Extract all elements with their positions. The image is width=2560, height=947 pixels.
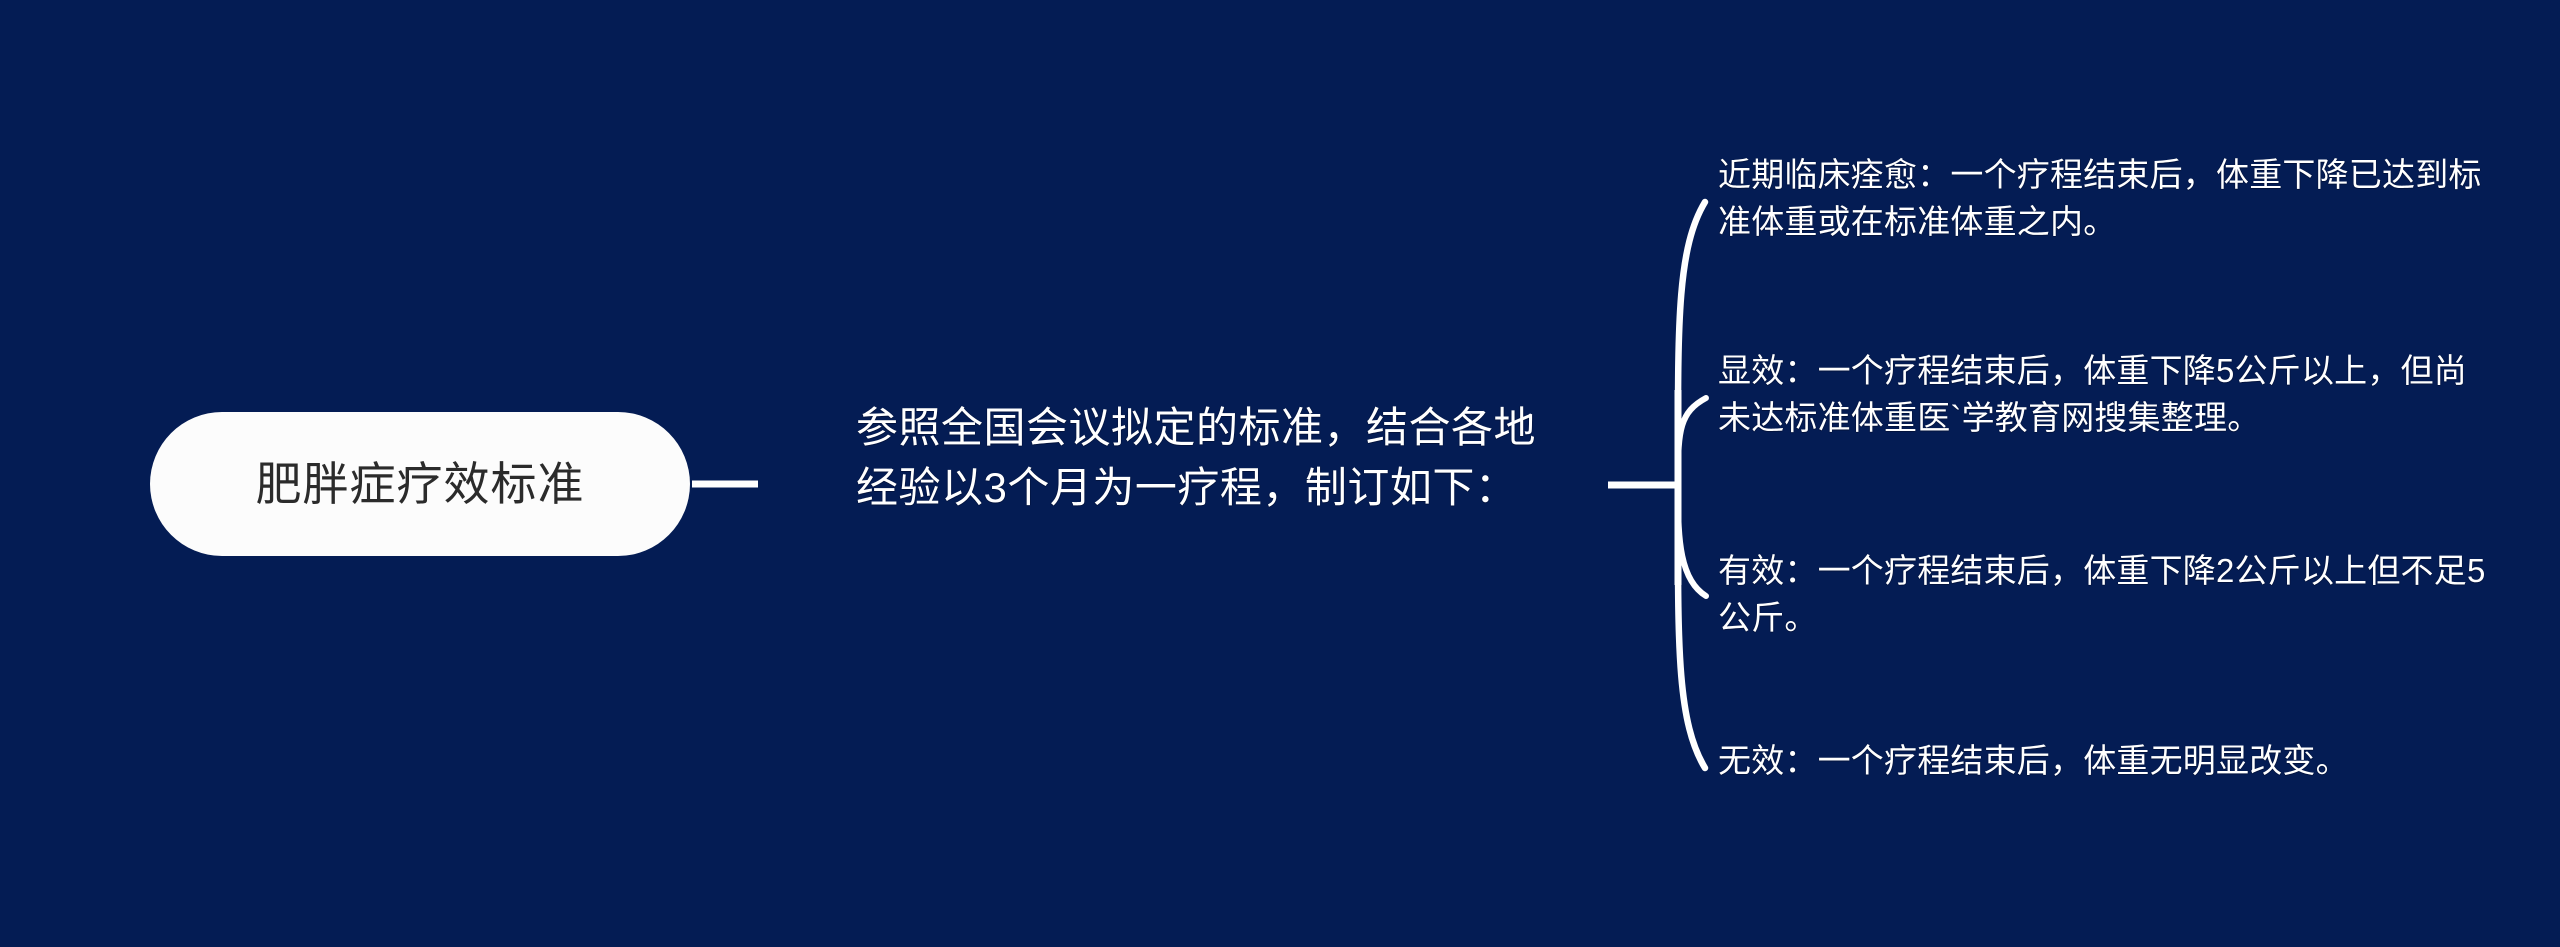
leaf-node-label: 显效：一个疗程结束后，体重下降5公斤以上，但尚未达标准体重医`学教育网搜集整理。: [1718, 352, 2467, 436]
leaf-node-effective[interactable]: 有效：一个疗程结束后，体重下降2公斤以上但不足5公斤。: [1718, 548, 2493, 642]
connector-brace-to-leaf-3: [1678, 492, 1705, 768]
root-node[interactable]: 肥胖症疗效标准: [150, 412, 690, 556]
connector-brace-to-leaf-2: [1678, 492, 1706, 596]
leaf-node-label: 有效：一个疗程结束后，体重下降2公斤以上但不足5公斤。: [1718, 552, 2486, 636]
leaf-node-clinical-recovery[interactable]: 近期临床痊愈：一个疗程结束后，体重下降已达到标准体重或在标准体重之内。: [1718, 152, 2493, 246]
branch-node[interactable]: 参照全国会议拟定的标准，结合各地经验以3个月为一疗程，制订如下：: [856, 398, 1546, 517]
leaf-node-markedly-effective[interactable]: 显效：一个疗程结束后，体重下降5公斤以上，但尚未达标准体重医`学教育网搜集整理。: [1718, 348, 2493, 442]
leaf-node-ineffective[interactable]: 无效：一个疗程结束后，体重无明显改变。: [1718, 738, 2493, 785]
connector-brace-to-leaf-0: [1678, 202, 1705, 480]
branch-node-label: 参照全国会议拟定的标准，结合各地经验以3个月为一疗程，制订如下：: [856, 404, 1536, 511]
leaf-node-label: 无效：一个疗程结束后，体重无明显改变。: [1718, 742, 2349, 779]
mindmap-canvas: 肥胖症疗效标准 参照全国会议拟定的标准，结合各地经验以3个月为一疗程，制订如下：…: [0, 0, 2560, 947]
root-node-label: 肥胖症疗效标准: [256, 459, 585, 510]
connector-brace-to-leaf-1: [1678, 398, 1706, 478]
leaf-node-label: 近期临床痊愈：一个疗程结束后，体重下降已达到标准体重或在标准体重之内。: [1718, 156, 2482, 240]
